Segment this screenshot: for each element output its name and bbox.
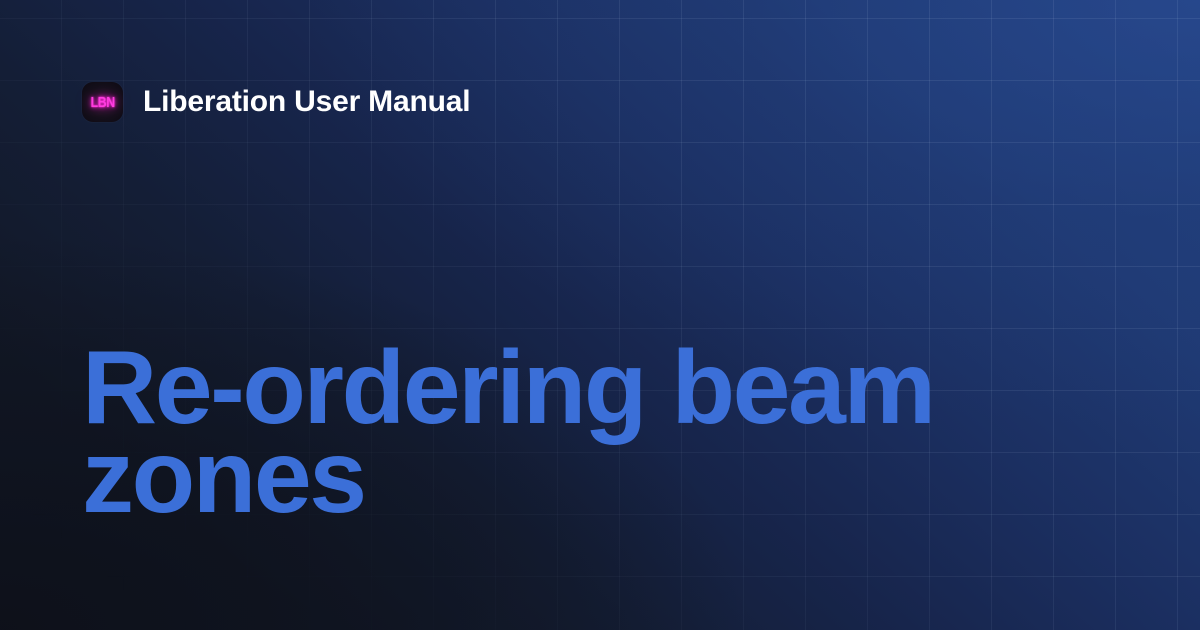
lbn-logo-label: LBN	[90, 95, 114, 110]
og-card: LBN Liberation User Manual Re-ordering b…	[0, 0, 1200, 630]
page-title: Re-ordering beam zones	[82, 344, 942, 522]
site-title: Liberation User Manual	[143, 87, 470, 117]
header: LBN Liberation User Manual	[82, 82, 470, 122]
lbn-logo-icon[interactable]: LBN	[82, 82, 123, 122]
